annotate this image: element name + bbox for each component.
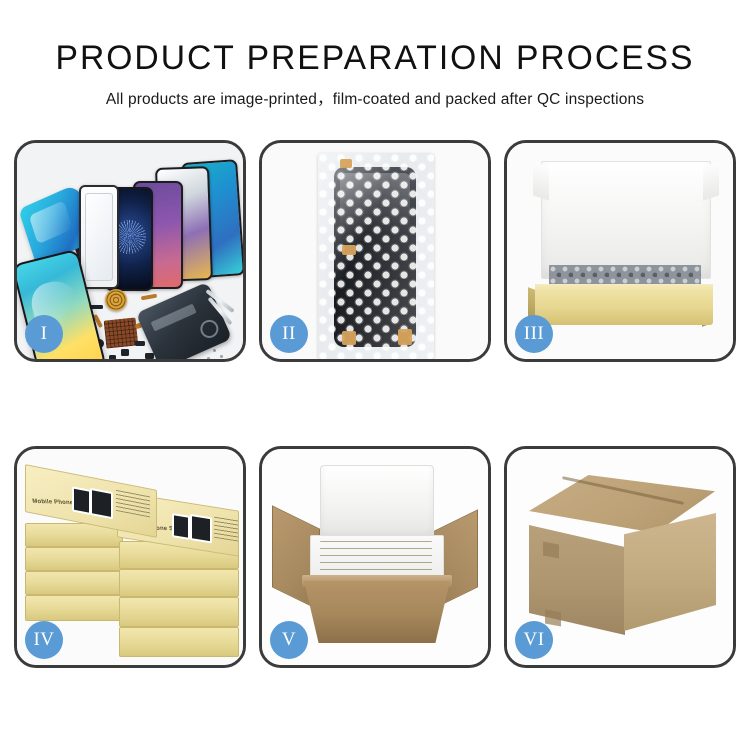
step-badge-6: VI xyxy=(515,621,553,659)
packed-yellow-boxes-icon xyxy=(320,541,432,577)
bubble-wrap-package-icon xyxy=(318,153,434,359)
header: PRODUCT PREPARATION PROCESS All products… xyxy=(0,0,750,110)
page-subtitle: All products are image-printed，film-coat… xyxy=(0,90,750,110)
carton-tape-upper-icon xyxy=(543,541,559,558)
step-5-carton-packing: V xyxy=(259,446,491,668)
carton-tape-lower-icon xyxy=(545,609,561,626)
process-step-grid: I II III xyxy=(14,140,736,668)
step-6-sealed-carton: VI xyxy=(504,446,736,668)
step-badge-2: II xyxy=(270,315,308,353)
step-badge-4: IV xyxy=(25,621,63,659)
step-1-products: I xyxy=(14,140,246,362)
box-lid-icon xyxy=(541,161,711,279)
step-4-box-stack: Mobile Phone Spare Parts Mobile Phone Sp… xyxy=(14,446,246,668)
step-2-bubble-wrap: II xyxy=(259,140,491,362)
screen-protector-icon xyxy=(79,185,119,289)
logic-board-icon xyxy=(104,317,139,348)
box-tray-icon xyxy=(535,291,713,325)
copper-coil-icon xyxy=(105,289,127,311)
step-badge-1: I xyxy=(25,315,63,353)
step-badge-5: V xyxy=(270,621,308,659)
foam-lid-icon xyxy=(320,465,434,539)
carton-body-icon xyxy=(304,581,450,643)
page-title: PRODUCT PREPARATION PROCESS xyxy=(4,38,747,78)
step-badge-3: III xyxy=(515,315,553,353)
step-3-inner-box: III xyxy=(504,140,736,362)
tweezers-icon xyxy=(203,293,241,345)
